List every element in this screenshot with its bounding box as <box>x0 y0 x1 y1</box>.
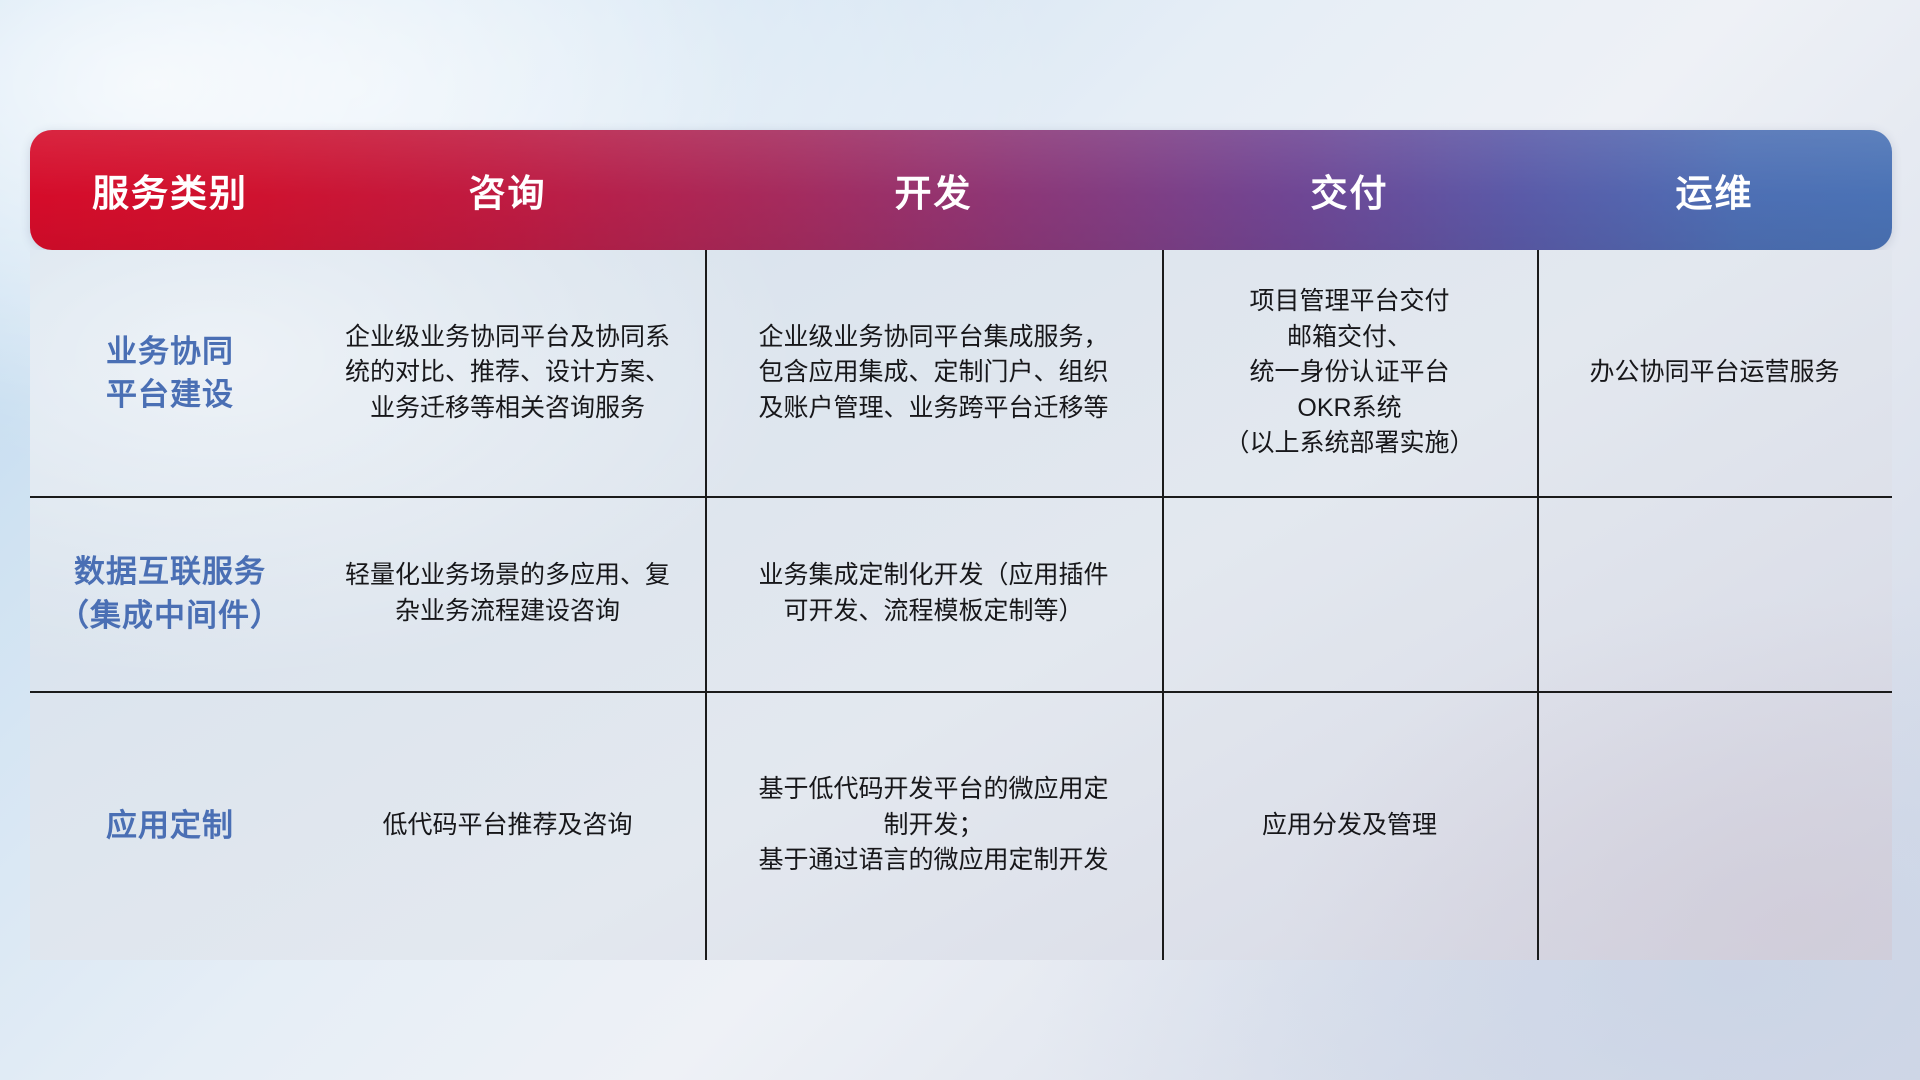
slide-canvas: 服务类别 咨询 开发 交付 运维 业务协同 平台建设 企业级业务协同平台及协同系… <box>0 0 1920 1080</box>
cell-operations <box>1537 496 1892 691</box>
cell-delivery: 项目管理平台交付 邮箱交付、 统一身份认证平台 OKR系统 （以上系统部署实施） <box>1162 250 1537 496</box>
cell-development: 企业级业务协同平台集成服务， 包含应用集成、定制门户、组织 及账户管理、业务跨平… <box>705 250 1162 496</box>
service-matrix-table: 服务类别 咨询 开发 交付 运维 业务协同 平台建设 企业级业务协同平台及协同系… <box>30 130 1892 960</box>
table-row: 业务协同 平台建设 企业级业务协同平台及协同系 统的对比、推荐、设计方案、 业务… <box>30 250 1892 496</box>
column-header-consulting: 咨询 <box>310 163 705 217</box>
cell-consulting: 轻量化业务场景的多应用、复 杂业务流程建设咨询 <box>310 496 705 691</box>
table-body: 业务协同 平台建设 企业级业务协同平台及协同系 统的对比、推荐、设计方案、 业务… <box>30 250 1892 960</box>
cell-operations <box>1537 691 1892 960</box>
table-row: 应用定制 低代码平台推荐及咨询 基于低代码开发平台的微应用定 制开发； 基于通过… <box>30 691 1892 960</box>
cell-consulting: 低代码平台推荐及咨询 <box>310 691 705 960</box>
cell-category: 数据互联服务 （集成中间件） <box>30 496 310 691</box>
cell-development: 业务集成定制化开发（应用插件 可开发、流程模板定制等） <box>705 496 1162 691</box>
cell-category: 业务协同 平台建设 <box>30 250 310 496</box>
column-divider-1 <box>705 250 707 960</box>
cell-operations: 办公协同平台运营服务 <box>1537 250 1892 496</box>
cell-development: 基于低代码开发平台的微应用定 制开发； 基于通过语言的微应用定制开发 <box>705 691 1162 960</box>
column-header-development: 开发 <box>705 163 1162 217</box>
column-divider-2 <box>1162 250 1164 960</box>
column-header-delivery: 交付 <box>1162 163 1537 217</box>
cell-category: 应用定制 <box>30 691 310 960</box>
cell-delivery: 应用分发及管理 <box>1162 691 1537 960</box>
column-divider-3 <box>1537 250 1539 960</box>
column-header-category: 服务类别 <box>30 163 310 217</box>
table-row: 数据互联服务 （集成中间件） 轻量化业务场景的多应用、复 杂业务流程建设咨询 业… <box>30 496 1892 691</box>
cell-consulting: 企业级业务协同平台及协同系 统的对比、推荐、设计方案、 业务迁移等相关咨询服务 <box>310 250 705 496</box>
table-header-row: 服务类别 咨询 开发 交付 运维 <box>30 130 1892 250</box>
column-header-operations: 运维 <box>1537 163 1892 217</box>
cell-delivery <box>1162 496 1537 691</box>
